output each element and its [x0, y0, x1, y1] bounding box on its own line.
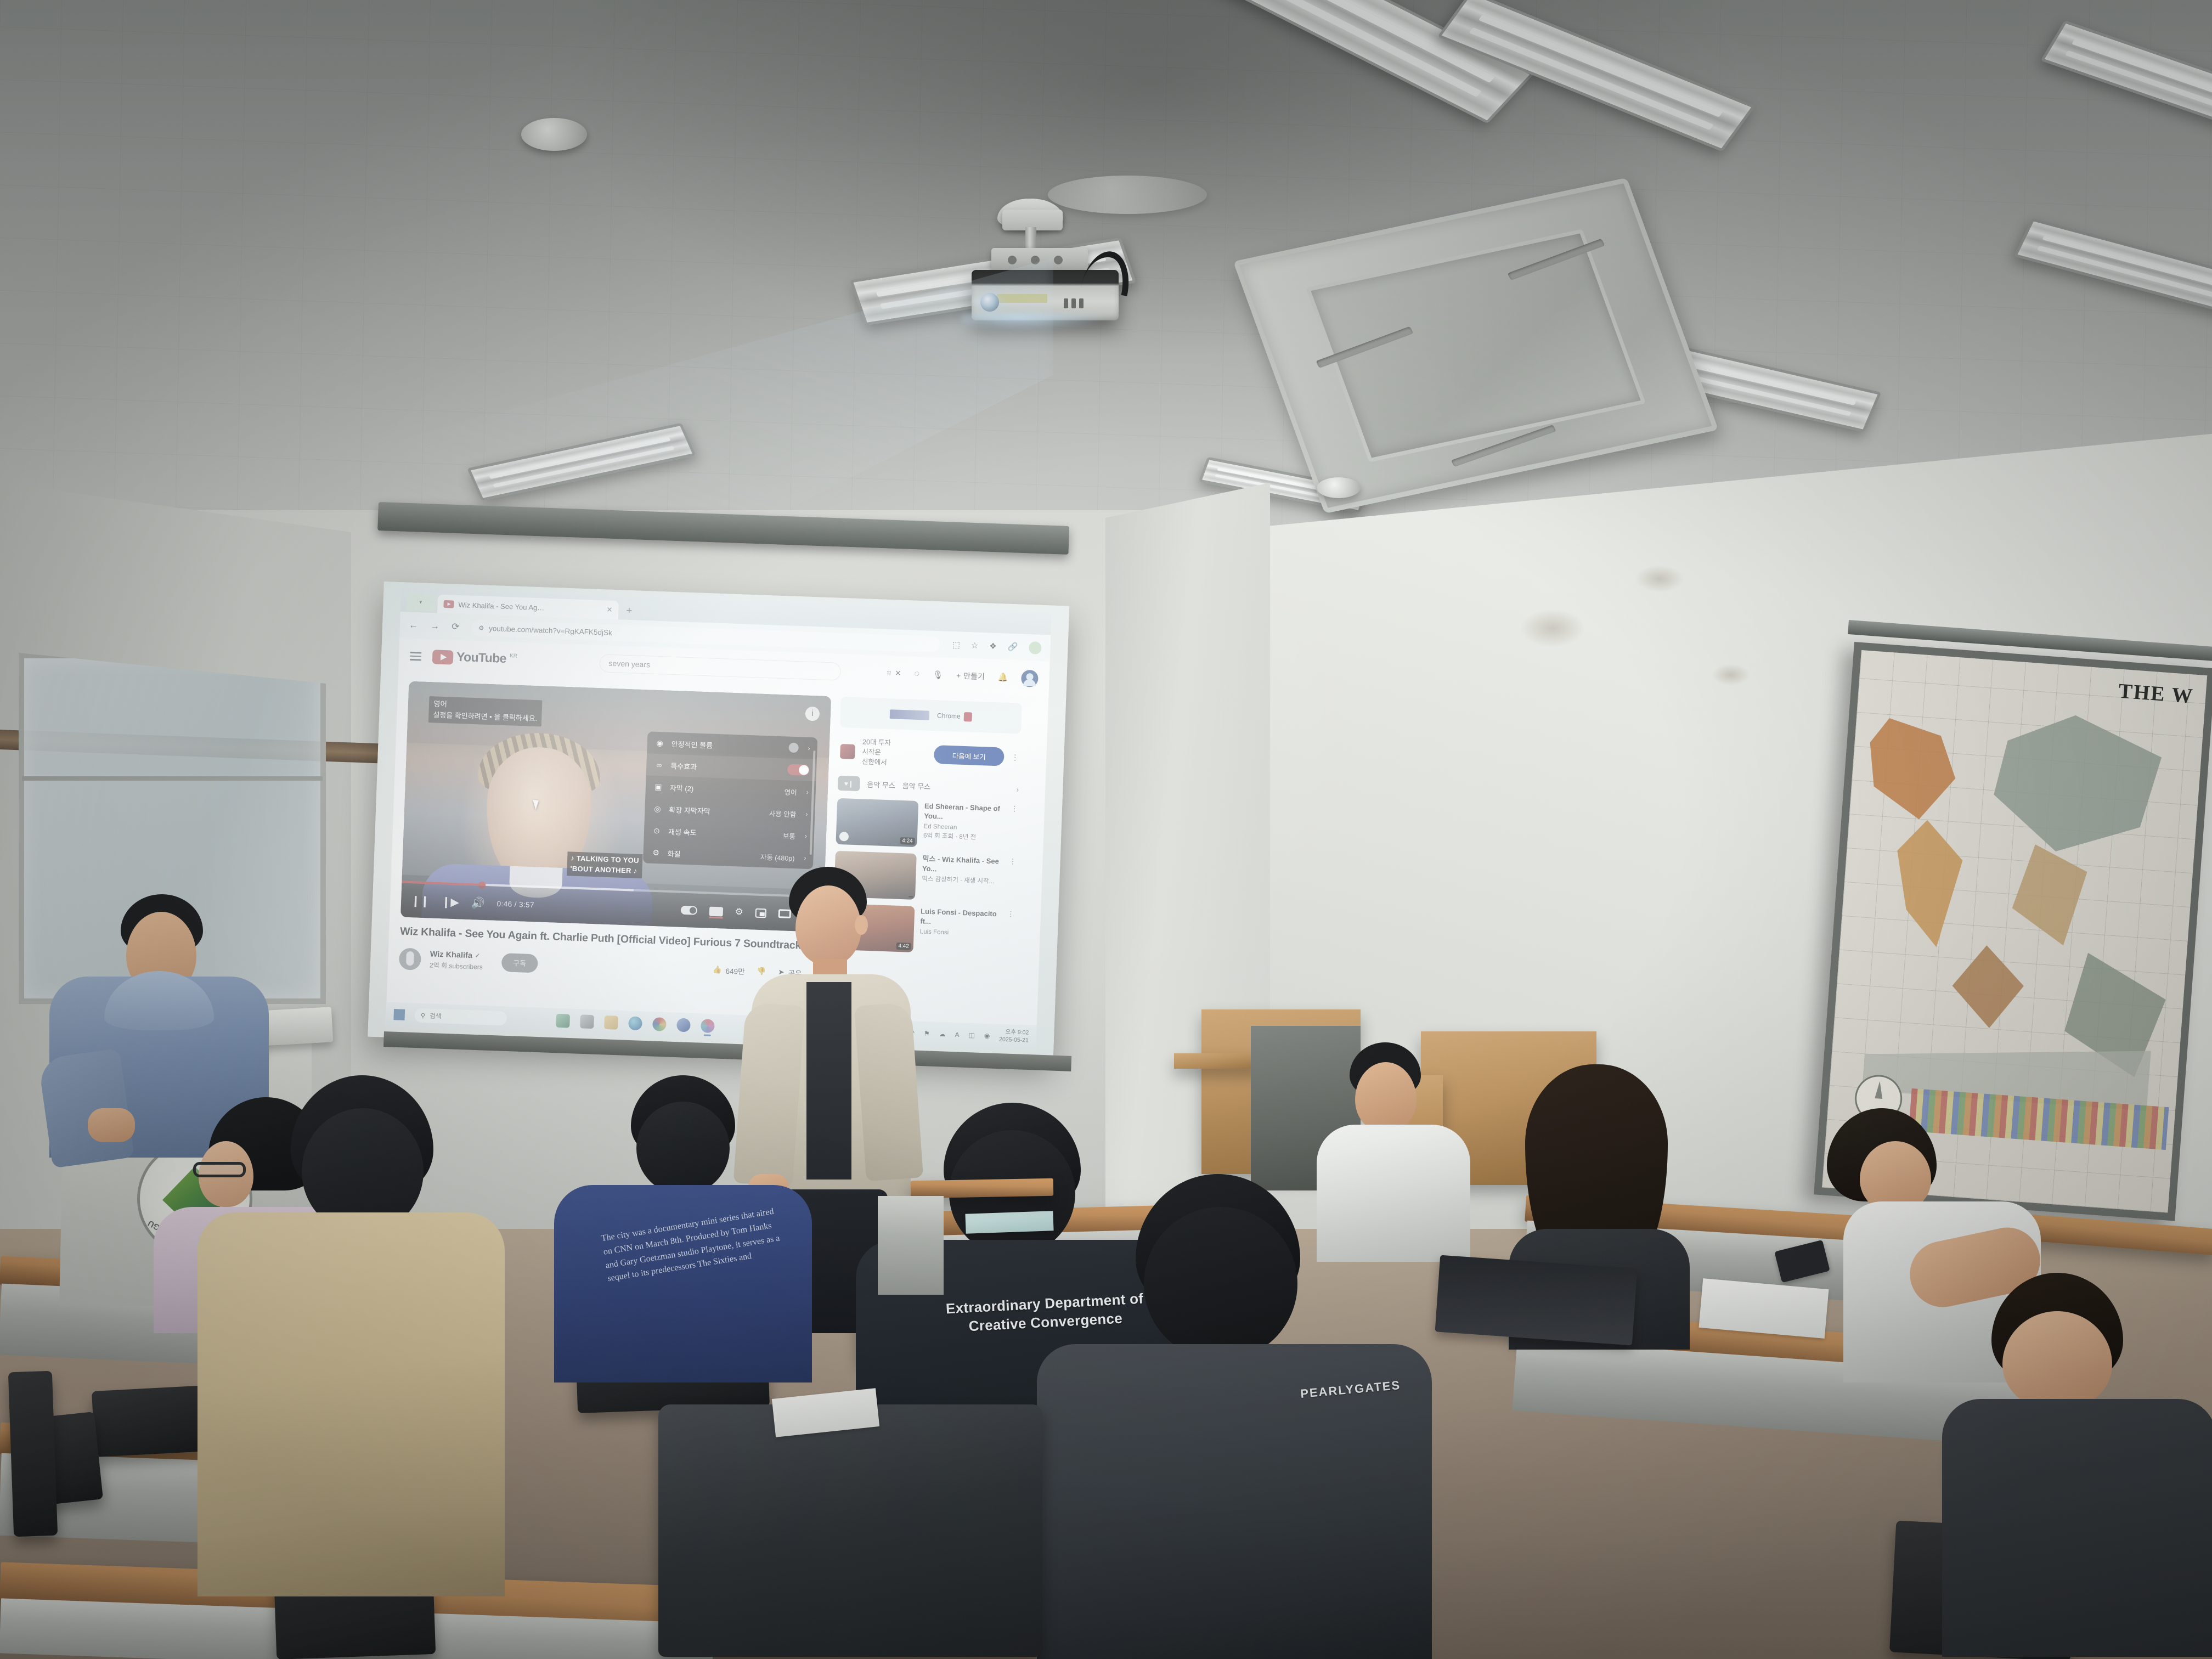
- settings-item-label: 자막 (2): [670, 782, 779, 796]
- recommended-kebab-icon[interactable]: ⋮: [1006, 910, 1014, 956]
- clock-date: 2025-05-21: [999, 1036, 1029, 1045]
- channel-name-row[interactable]: Wiz Khalifa ✓: [430, 950, 483, 960]
- account-avatar[interactable]: [1021, 669, 1039, 687]
- torso: [1942, 1399, 2212, 1657]
- video-caption-settings-hint: 영어 설정을 확인하려면 • 을 클릭하세요.: [428, 696, 543, 726]
- advertiser-logo-icon: [890, 709, 930, 720]
- settings-item-value: 사용 안함: [769, 808, 797, 819]
- channel-block: Wiz Khalifa ✓ 2억 회 subscribers: [430, 950, 483, 971]
- classroom-photograph: ▾ Wiz Khalifa - See You Ag… ✕ + — ☐ ←: [0, 0, 2212, 1659]
- taskbar-app-icons: [556, 1013, 715, 1032]
- chevron-down-icon: ▾: [419, 599, 422, 605]
- subtitle-line-2: 'BOUT ANOTHER ♪: [570, 864, 639, 877]
- glass-panel-mullion: [22, 776, 323, 781]
- settings-item-label: 특수효과: [670, 760, 782, 774]
- settings-item-value: 자동 (480p): [760, 851, 795, 862]
- recommended-stats: 6억 회 조회 · 8년 전: [923, 831, 1004, 843]
- projector-vent: [1079, 298, 1084, 308]
- recommended-kebab-icon[interactable]: ⋮: [1009, 805, 1018, 851]
- recommended-thumbnail: 4:24: [836, 798, 918, 847]
- mic-icon[interactable]: 🎙: [933, 670, 944, 680]
- volume-icon[interactable]: 🔊: [471, 896, 485, 910]
- bracket-hole: [1031, 256, 1040, 264]
- recommended-info: Luis Fonsi - Despacito ft... Luis Fonsi: [919, 907, 1001, 956]
- thumbs-up-icon: 👍: [713, 965, 722, 974]
- projector-label: [997, 294, 1047, 303]
- bookmark-star-icon[interactable]: ☆: [971, 640, 979, 650]
- ad-cta-button[interactable]: 다음에 보기: [934, 745, 1005, 766]
- ceiling-sensor: [1317, 477, 1361, 498]
- projector-vent: [1071, 298, 1076, 308]
- ceiling-speaker: [521, 118, 587, 151]
- new-tab-button[interactable]: +: [626, 605, 633, 617]
- bracket-hole: [1054, 256, 1063, 264]
- subscriber-count: 2억 회 subscribers: [430, 960, 483, 971]
- settings-item-value: 보통: [783, 830, 796, 841]
- chrome-ad-label: Chrome: [937, 711, 972, 721]
- settings-indicator-dot: [788, 743, 799, 753]
- video-duration-badge: 4:24: [900, 837, 915, 845]
- taskbar-clock[interactable]: 오후 9:02 2025-05-21: [999, 1029, 1029, 1045]
- search-input-value: seven years: [608, 659, 650, 669]
- youtube-country-code: KR: [510, 653, 517, 659]
- sidebar-chip-row: ♥❙ 음악 무스 음악 무스 ›: [838, 775, 1019, 798]
- person-student-white-shirt: [1317, 1042, 1470, 1262]
- youtube-favicon: [443, 600, 454, 608]
- address-bar-url: youtube.com/watch?v=RgKAFK5djSk: [489, 624, 612, 636]
- head: [795, 885, 861, 966]
- chip-item[interactable]: 음악 무스: [902, 780, 930, 792]
- ceiling-speaker: [1048, 176, 1207, 214]
- playback-speed-icon: ⊙: [651, 825, 663, 837]
- youtube-header-actions: ⌗ ✕ ◌ 🎙 + 만들기 🔔: [887, 664, 1039, 687]
- side-table: [911, 1178, 1054, 1199]
- chevron-right-icon[interactable]: ›: [1017, 786, 1019, 794]
- ad-brand-text: Chrome: [937, 712, 961, 720]
- torso-shirt: [1317, 1125, 1470, 1262]
- head: [1144, 1207, 1297, 1361]
- next-video-icon[interactable]: ❙▶: [441, 895, 459, 909]
- sidebar-ad-banner[interactable]: Chrome: [840, 697, 1022, 734]
- cast-icon[interactable]: ⌗ ✕: [887, 669, 901, 678]
- chevron-right-icon: ›: [805, 810, 808, 818]
- loop-icon: ∞: [653, 759, 665, 771]
- browser-tab-title: Wiz Khalifa - See You Ag…: [458, 600, 544, 612]
- taskbar-app-store-icon[interactable]: [580, 1014, 594, 1029]
- reload-icon[interactable]: ⟳: [452, 621, 460, 632]
- youtube-main: 영어 설정을 확인하려면 • 을 클릭하세요. ♪ TALKING TO YOU…: [387, 673, 1048, 1003]
- chevron-right-icon: ›: [806, 788, 809, 796]
- subscribe-button[interactable]: 구독: [501, 953, 538, 973]
- wooden-shelf: [1174, 1053, 1262, 1069]
- system-tray: ^ ⚑ ☁ A ◫ ◉ 오후 9:02 2025-05-21: [911, 1025, 1029, 1045]
- person-student-beige: [198, 1075, 505, 1657]
- settings-item-value: 영어: [784, 786, 797, 797]
- taskbar-app-player-icon[interactable]: [701, 1019, 715, 1033]
- search-icon: ⚲: [421, 1012, 426, 1019]
- recommended-video-item[interactable]: 4:24 Ed Sheeran - Shape of You... Ed She…: [836, 798, 1018, 851]
- laptop: [1435, 1255, 1638, 1346]
- channel-name: Wiz Khalifa: [430, 950, 472, 960]
- video-time-display: 0:46 / 3:57: [496, 899, 534, 909]
- projected-browser-window: ▾ Wiz Khalifa - See You Ag… ✕ + — ☐ ←: [386, 588, 1052, 1049]
- tray-cloud-icon[interactable]: ☁: [939, 1030, 945, 1038]
- settings-item-label: 확장 자막자막: [669, 804, 763, 817]
- wall-mark: [1635, 565, 1684, 592]
- tray-display-icon[interactable]: ◫: [968, 1031, 975, 1039]
- chevron-right-icon: ›: [804, 854, 806, 862]
- extended-subtitles-icon: ◎: [652, 803, 663, 815]
- cast-glyph: ⌗: [887, 669, 891, 678]
- back-icon[interactable]: ←: [409, 620, 419, 631]
- backpack: [658, 1404, 1042, 1657]
- youtube-play-icon: [432, 650, 454, 664]
- hand: [88, 1108, 135, 1142]
- head: [1355, 1062, 1417, 1132]
- voice-search-icon[interactable]: ◌: [914, 669, 919, 679]
- ad-headline: 20대 투자 시작은 신한에서: [861, 737, 927, 769]
- create-label: 만들기: [963, 670, 985, 682]
- youtube-search-input[interactable]: seven years: [599, 654, 841, 681]
- wall-mark: [1712, 664, 1750, 686]
- tab-close-icon[interactable]: ✕: [606, 606, 612, 614]
- tab-group-chip[interactable]: ▾: [406, 593, 435, 611]
- chip-item[interactable]: 음악 무스: [867, 779, 895, 791]
- sidebar-ad-row[interactable]: 20대 투자 시작은 신한에서 다음에 보기 ⋮: [838, 734, 1020, 775]
- ear: [855, 915, 868, 935]
- share-icon[interactable]: ⬚: [952, 640, 960, 650]
- subtitles-icon: ▣: [653, 781, 664, 793]
- ad-kebab-icon[interactable]: ⋮: [1011, 753, 1019, 762]
- settings-item-label: 재생 속도: [668, 826, 777, 840]
- pause-icon[interactable]: ❙❙: [411, 894, 430, 908]
- ad-thumbnail: [840, 744, 855, 759]
- taskbar-search-box[interactable]: ⚲ 검색: [414, 1008, 507, 1026]
- taskbar-app-explorer-icon[interactable]: [556, 1013, 570, 1028]
- start-button-icon[interactable]: [393, 1009, 405, 1020]
- extensions-icon[interactable]: ❖: [989, 641, 997, 651]
- forward-icon[interactable]: →: [430, 620, 440, 632]
- head: [636, 1102, 730, 1195]
- recommended-info: 믹스 - Wiz Khalifa - See Yo... 믹스 감상하기 · 재…: [921, 854, 1003, 903]
- chevron-right-icon: ›: [808, 744, 810, 752]
- bracket-hole: [1008, 256, 1017, 264]
- notifications-bell-icon[interactable]: 🔔: [997, 672, 1008, 682]
- browser-extensions: ⬚ ☆ ❖ 🔗: [952, 639, 1041, 654]
- recommended-stats: 믹스 감상하기 · 재생 시작...: [922, 874, 1002, 886]
- wall-mark: [1520, 609, 1585, 647]
- projector-lens: [980, 293, 999, 312]
- projection-screen-surface: ▾ Wiz Khalifa - See You Ag… ✕ + — ☐ ←: [368, 582, 1069, 1061]
- taskbar-app-edge-icon[interactable]: [628, 1016, 642, 1030]
- taskbar-app-chrome-icon[interactable]: [652, 1017, 667, 1031]
- puzzle-icon[interactable]: 🔗: [1007, 642, 1018, 652]
- paper-handout: [965, 1211, 1053, 1234]
- player-settings-menu[interactable]: ◉ 안정적인 볼륨 › ∞ 특수효과: [643, 731, 817, 869]
- stable-volume-icon: ◉: [654, 737, 665, 749]
- create-button[interactable]: + 만들기: [956, 670, 985, 682]
- chrome-badge-icon: [963, 712, 972, 721]
- subtitles-cc-icon[interactable]: [709, 906, 723, 916]
- hamburger-menu-icon[interactable]: [410, 652, 422, 661]
- settings-item-label: 화질: [667, 848, 754, 861]
- quality-icon: ⚙: [650, 847, 662, 859]
- youtube-wordmark: YouTube: [456, 651, 507, 665]
- projector-vent: [1064, 298, 1068, 308]
- classroom-chair: [8, 1371, 58, 1537]
- youtube-logo[interactable]: YouTube KR: [432, 650, 518, 667]
- caption-settings-hint: 설정을 확인하려면 • 을 클릭하세요.: [433, 711, 537, 723]
- person-student-blue-tshirt: The city was a documentary mini series t…: [549, 1075, 812, 1383]
- browser-profile-avatar[interactable]: [1029, 641, 1042, 654]
- plus-icon: +: [956, 671, 961, 680]
- video-subtitle: ♪ TALKING TO YOU 'BOUT ANOTHER ♪: [567, 852, 642, 879]
- taskbar-app-folder-icon[interactable]: [604, 1015, 618, 1029]
- projection-screen: ▾ Wiz Khalifa - See You Ag… ✕ + — ☐ ←: [368, 582, 1069, 1061]
- settings-item-label: 안정적인 볼륨: [671, 738, 783, 752]
- ad-headline-line3: 신한에서: [861, 757, 927, 769]
- side-table-panel: [878, 1196, 944, 1295]
- autoplay-toggle[interactable]: [680, 906, 697, 915]
- site-info-icon[interactable]: ⚙: [478, 624, 484, 631]
- tray-ime-icon[interactable]: A: [955, 1031, 960, 1039]
- recommended-info: Ed Sheeran - Shape of You... Ed Sheeran …: [923, 802, 1005, 850]
- settings-toggle-switch[interactable]: [787, 764, 810, 776]
- recommended-channel: Luis Fonsi: [920, 929, 1001, 938]
- tray-volume-icon[interactable]: ◉: [984, 1032, 990, 1040]
- recommended-title: Ed Sheeran - Shape of You...: [924, 802, 1005, 823]
- mix-icon: ♥❙: [838, 776, 860, 791]
- thumbnail-overlay-icon: [839, 832, 849, 842]
- jacket-front-gap: [806, 982, 851, 1180]
- taskbar-app-teams-icon[interactable]: [676, 1018, 691, 1032]
- torso-sweater: [198, 1212, 505, 1596]
- chevron-right-icon: ›: [805, 832, 807, 840]
- ceiling-projector: [957, 219, 1138, 346]
- recommended-kebab-icon[interactable]: ⋮: [1008, 857, 1017, 903]
- recommended-title: 믹스 - Wiz Khalifa - See Yo...: [922, 854, 1003, 876]
- projector-light-glow: [962, 314, 1104, 330]
- search-close-icon[interactable]: ✕: [895, 669, 901, 678]
- channel-avatar[interactable]: [399, 947, 421, 970]
- verified-badge-icon: ✓: [475, 952, 481, 959]
- person-student-bottom-right: [1942, 1273, 2212, 1657]
- taskbar-search-placeholder: 검색: [430, 1011, 442, 1020]
- head: [2002, 1311, 2112, 1410]
- recommended-title: Luis Fonsi - Despacito ft...: [920, 907, 1001, 929]
